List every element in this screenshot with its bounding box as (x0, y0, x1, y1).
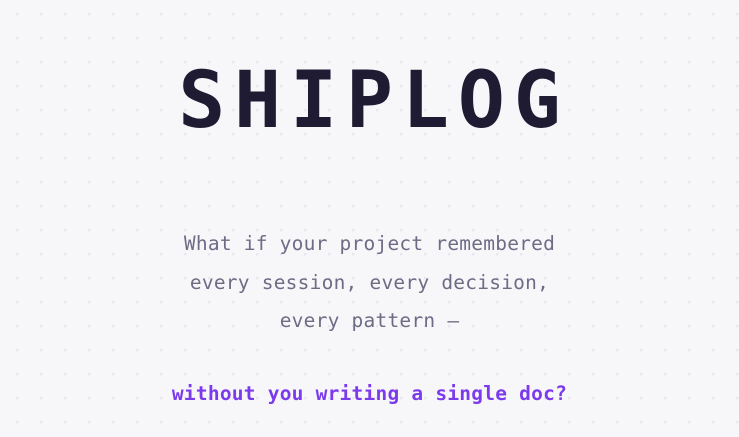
hero-section: SHIPLOG What if your project remembered … (0, 0, 739, 437)
hero-subheadline: What if your project remembered every se… (0, 225, 739, 341)
subheadline-line-3: every pattern — (0, 302, 739, 341)
page-title: SHIPLOG (0, 62, 739, 140)
hero-kicker-text: without you writing a single doc? (0, 379, 739, 409)
subheadline-line-2: every session, every decision, (0, 264, 739, 303)
subheadline-line-1: What if your project remembered (0, 225, 739, 264)
